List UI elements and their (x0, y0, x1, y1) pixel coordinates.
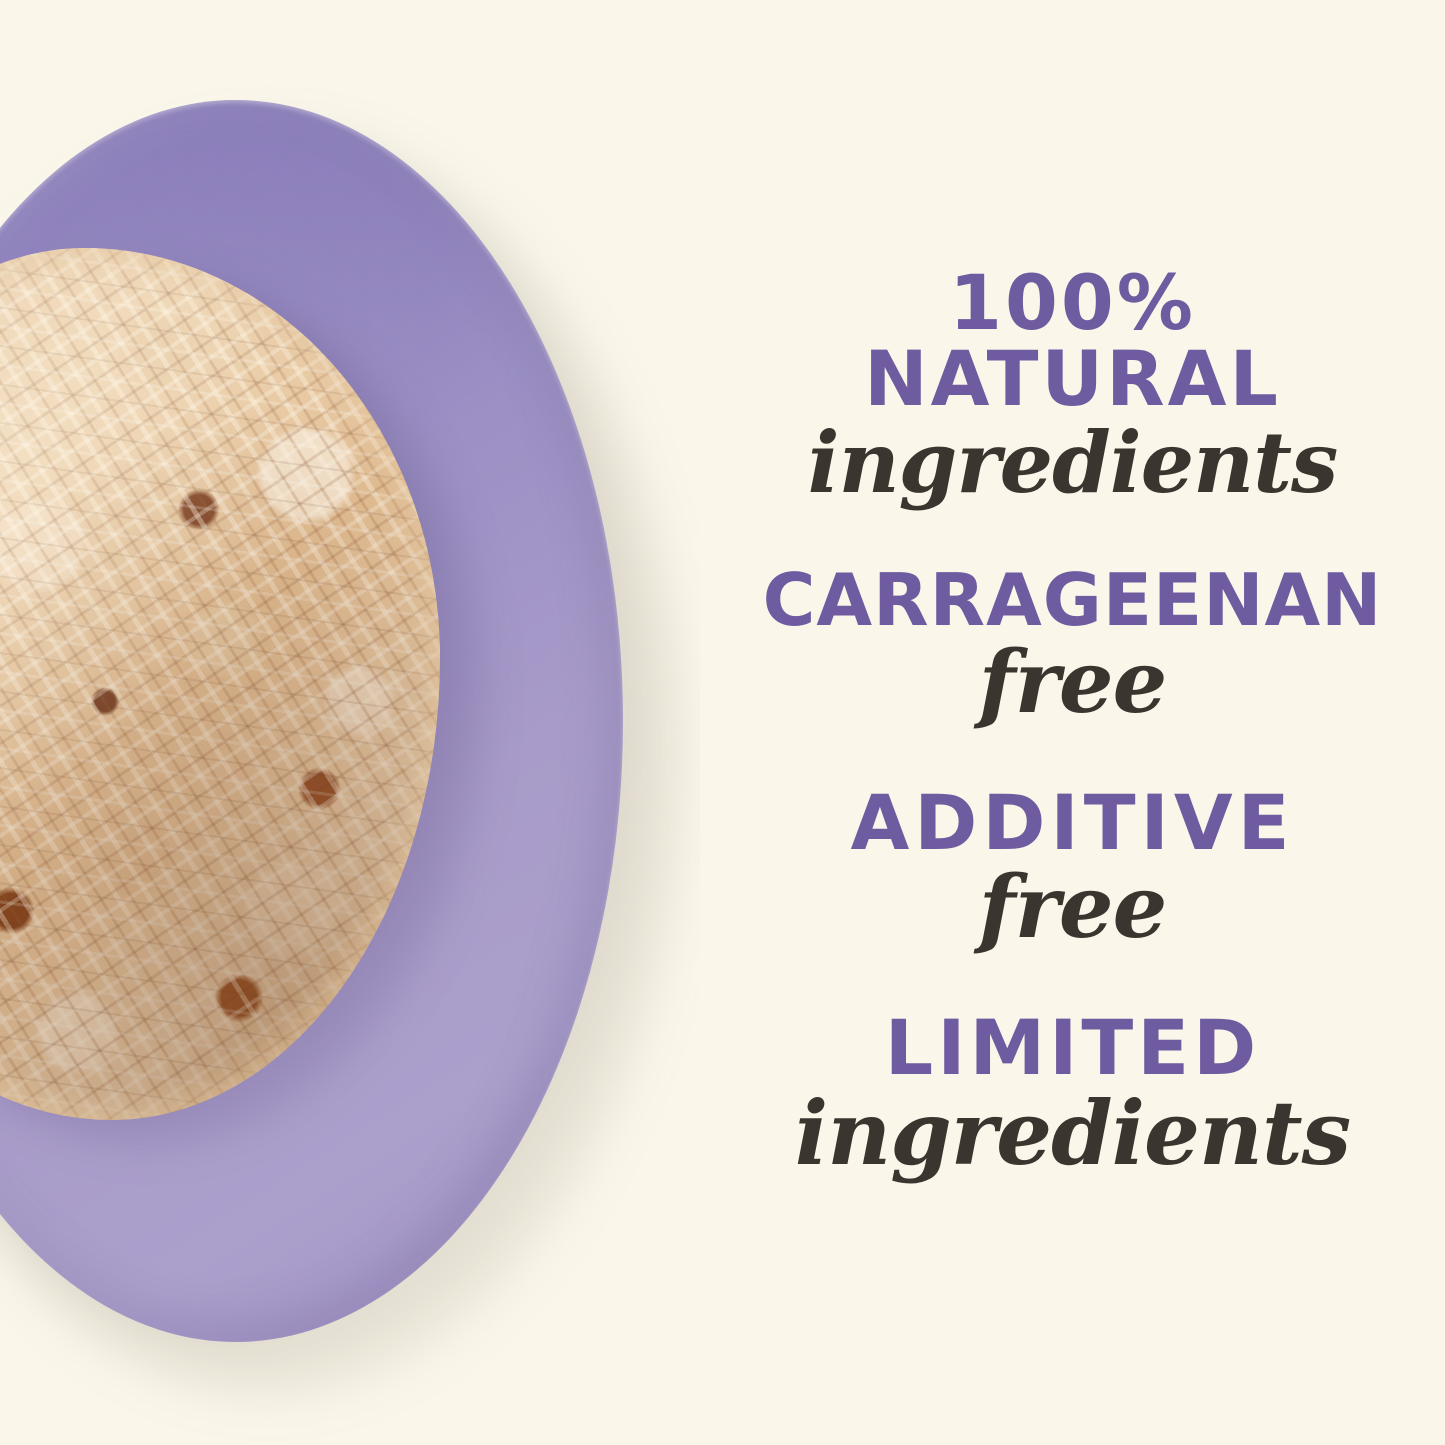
claim-natural-headline: 100% NATURAL (700, 265, 1445, 417)
claim-additive-script: free (700, 863, 1445, 953)
claim-carrageenan-script: free (700, 638, 1445, 728)
product-photo (0, 0, 700, 1445)
product-claims-graphic: 100% NATURAL ingredients CARRAGEENAN fre… (0, 0, 1445, 1445)
claim-carrageenan: CARRAGEENAN free (700, 565, 1445, 728)
claim-additive: ADDITIVE free (700, 786, 1445, 953)
claim-carrageenan-headline: CARRAGEENAN (700, 565, 1445, 636)
claim-additive-headline: ADDITIVE (700, 786, 1445, 860)
claim-natural-headline-line-1: 100% (700, 265, 1445, 341)
claim-limited: LIMITED ingredients (700, 1011, 1445, 1180)
claim-natural-headline-line-2: NATURAL (700, 341, 1445, 417)
claim-limited-script: ingredients (700, 1087, 1445, 1179)
shredded-pet-food-mound (0, 248, 440, 1120)
claim-natural: 100% NATURAL ingredients (700, 265, 1445, 507)
claim-limited-headline: LIMITED (700, 1011, 1445, 1085)
claim-natural-script: ingredients (700, 419, 1445, 507)
claims-list: 100% NATURAL ingredients CARRAGEENAN fre… (700, 0, 1445, 1445)
